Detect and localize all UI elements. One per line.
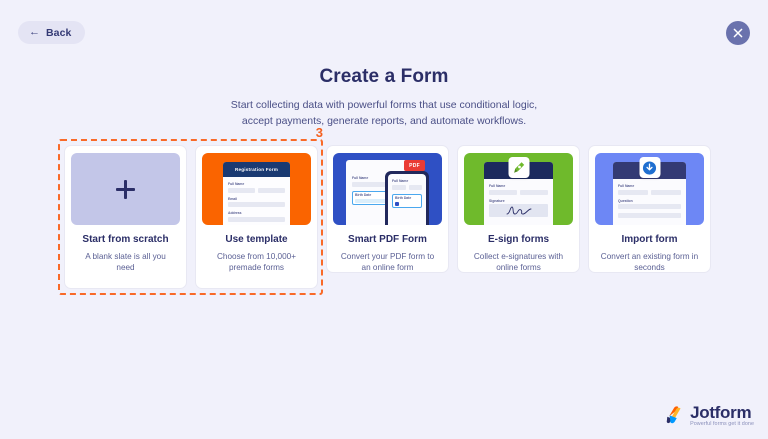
- import-preview-body: Full Name Question: [613, 179, 686, 218]
- preview-field-row: [228, 188, 285, 193]
- preview-field-row: [618, 190, 681, 195]
- pdf-badge: PDF: [404, 160, 425, 171]
- card-description: Convert an existing form in seconds: [596, 251, 703, 273]
- download-icon: [643, 161, 657, 175]
- card-description: Choose from 10,000+ premade forms: [203, 251, 310, 273]
- preview-field: [392, 185, 406, 190]
- jotform-logo-icon: [664, 404, 686, 426]
- preview-label-address: Address: [228, 211, 285, 215]
- preview-label-email: Email: [228, 197, 285, 201]
- esign-preview-body: Full Name Signature: [484, 179, 553, 217]
- thumb-use-template: Registration Form Full Name Email Addres…: [202, 153, 311, 225]
- card-title: Use template: [225, 234, 287, 246]
- card-esign-forms[interactable]: Full Name Signature: [457, 145, 580, 273]
- page-header: Create a Form Start collecting data with…: [0, 66, 768, 129]
- thumb-esign-forms: Full Name Signature: [464, 153, 573, 225]
- card-title: E-sign forms: [488, 234, 549, 246]
- card-smart-pdf-form[interactable]: Full Name Birth Date PDF Full Name Birth…: [326, 145, 449, 273]
- signature-field: [489, 204, 548, 217]
- preview-field: [409, 185, 423, 190]
- preview-field: [228, 202, 285, 207]
- phone-screen: Full Name Birth Date: [388, 174, 426, 225]
- jotform-wordmark: Jotform Powerful forms get it done: [690, 404, 754, 427]
- preview-field: [520, 190, 548, 195]
- thumb-smart-pdf-form: Full Name Birth Date PDF Full Name Birth…: [333, 153, 442, 225]
- template-preview-body: Full Name Email Address: [223, 177, 290, 222]
- template-preview-header: Registration Form: [223, 162, 290, 177]
- import-download-badge: [639, 157, 660, 178]
- form-type-card-list: Start from scratch A blank slate is all …: [64, 145, 711, 289]
- preview-highlight-birth-date: Birth Date: [392, 194, 422, 209]
- preview-label-full-name: Full Name: [489, 184, 548, 188]
- jotform-logo-word: Jotform: [690, 404, 754, 421]
- preview-label-full-name: Full Name: [392, 179, 422, 183]
- preview-label-birth-date: Birth Date: [395, 196, 419, 200]
- preview-field-row: [489, 190, 548, 195]
- phone-mockup: Full Name Birth Date: [385, 171, 429, 225]
- template-form-preview: Registration Form Full Name Email Addres…: [223, 162, 290, 225]
- page-subtitle-line-1: Start collecting data with powerful form…: [0, 97, 768, 113]
- thumb-import-form: Full Name Question: [595, 153, 704, 225]
- preview-label-signature: Signature: [489, 199, 548, 203]
- card-description: Convert your PDF form to an online form: [334, 251, 441, 273]
- preview-field: [618, 204, 681, 209]
- calendar-icon: [395, 202, 399, 206]
- card-description: A blank slate is all you need: [72, 251, 179, 273]
- signature-pen-icon: [512, 161, 525, 174]
- page-subtitle: Start collecting data with powerful form…: [0, 97, 768, 129]
- back-button-label: Back: [46, 27, 72, 39]
- arrow-left-icon: ←: [29, 27, 40, 38]
- preview-label-question: Question: [618, 199, 681, 203]
- preview-field: [228, 217, 285, 222]
- preview-field-row: [392, 185, 422, 190]
- thumb-start-from-scratch: [71, 153, 180, 225]
- handwritten-signature-icon: [506, 206, 532, 216]
- preview-field: [489, 190, 517, 195]
- card-use-template[interactable]: Registration Form Full Name Email Addres…: [195, 145, 318, 289]
- close-icon: [733, 28, 743, 38]
- preview-field: [651, 190, 681, 195]
- jotform-logo-tagline: Powerful forms get it done: [690, 422, 754, 427]
- plus-icon: [116, 180, 135, 199]
- preview-field: [258, 188, 285, 193]
- close-button[interactable]: [726, 21, 750, 45]
- card-title: Start from scratch: [82, 234, 168, 246]
- preview-label-full-name: Full Name: [618, 184, 681, 188]
- card-description: Collect e-signatures with online forms: [465, 251, 572, 273]
- page-subtitle-line-2: accept payments, generate reports, and a…: [0, 113, 768, 129]
- preview-field: [618, 213, 681, 218]
- esign-pen-badge: [508, 157, 529, 178]
- card-title: Smart PDF Form: [348, 234, 427, 246]
- card-import-form[interactable]: Full Name Question Import form Conver: [588, 145, 711, 273]
- preview-field: [228, 188, 255, 193]
- jotform-logo: Jotform Powerful forms get it done: [664, 404, 754, 427]
- preview-label-full-name: Full Name: [228, 182, 285, 186]
- back-button[interactable]: ← Back: [18, 21, 85, 44]
- preview-field: [618, 190, 648, 195]
- card-title: Import form: [621, 234, 677, 246]
- page-title: Create a Form: [0, 66, 768, 88]
- selection-badge: 3: [316, 126, 323, 139]
- card-start-from-scratch[interactable]: Start from scratch A blank slate is all …: [64, 145, 187, 289]
